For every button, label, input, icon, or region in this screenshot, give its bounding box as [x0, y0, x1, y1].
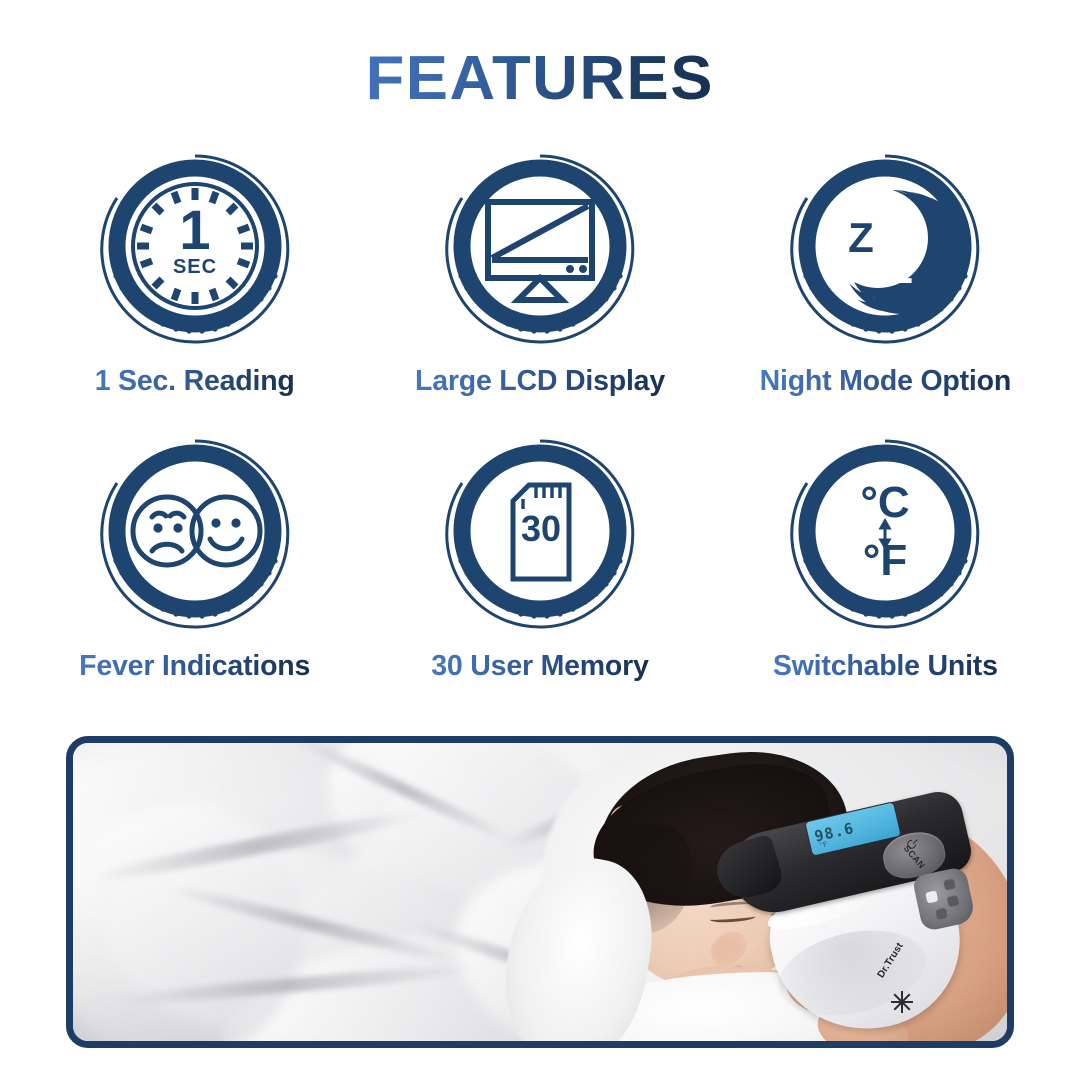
feature-label-fever-indications: Fever Indications: [79, 651, 310, 682]
product-lifestyle-photo: 98.6 °F SCAN Dr.Trust: [66, 736, 1014, 1048]
page-title: FEATURES: [366, 48, 714, 110]
feature-label-night-mode-option: Night Mode Option: [760, 366, 1011, 397]
memory-card-icon: 30: [437, 431, 643, 637]
page-title-container: FEATURES: [0, 48, 1080, 110]
feature-label-one-sec-reading: 1 Sec. Reading: [95, 366, 295, 397]
moon-z-inner: Z: [888, 245, 914, 292]
features-page: FEATURES: [0, 0, 1080, 1080]
stopwatch-value: 1: [179, 198, 210, 261]
mode-button[interactable]: [943, 878, 956, 891]
feature-item-night-mode-option: Z Z Night Mode Option: [713, 146, 1058, 431]
lcd-reading-unit: °F: [818, 840, 828, 850]
infrared-thermometer[interactable]: 98.6 °F SCAN Dr.Trust: [721, 805, 1014, 1035]
feature-item-one-sec-reading: 1 SEC 1 Sec. Reading: [22, 146, 367, 431]
brand-starburst-icon: [891, 991, 913, 1013]
monitor-icon: [437, 146, 643, 352]
feature-item-large-lcd-display: Large LCD Display: [367, 146, 712, 431]
feature-label-thirty-user-memory: 30 User Memory: [431, 651, 648, 682]
sad-happy-faces-icon: [92, 431, 298, 637]
features-grid: 1 SEC 1 Sec. Reading: [22, 146, 1058, 716]
mode-button[interactable]: [935, 907, 948, 920]
mode-button-pad[interactable]: [912, 866, 976, 932]
mode-button[interactable]: [947, 894, 960, 907]
feature-item-fever-indications: Fever Indications: [22, 431, 367, 716]
feature-item-thirty-user-memory: 30 30 User Memory: [367, 431, 712, 716]
feature-label-switchable-units: Switchable Units: [773, 651, 998, 682]
moon-z-outer: Z: [849, 214, 875, 261]
celsius-fahrenheit-icon: °C °F: [782, 431, 988, 637]
stopwatch-icon: 1 SEC: [92, 146, 298, 352]
stopwatch-unit: SEC: [173, 256, 217, 278]
memory-card-value: 30: [521, 508, 561, 549]
photo-scene: 98.6 °F SCAN Dr.Trust: [73, 743, 1007, 1041]
swap-arrow-icon: [881, 521, 889, 547]
moon-zzz-icon: Z Z: [782, 146, 988, 352]
feature-label-large-lcd-display: Large LCD Display: [415, 366, 665, 397]
indicator-light: [925, 890, 938, 903]
feature-item-switchable-units: °C °F: [713, 431, 1058, 716]
